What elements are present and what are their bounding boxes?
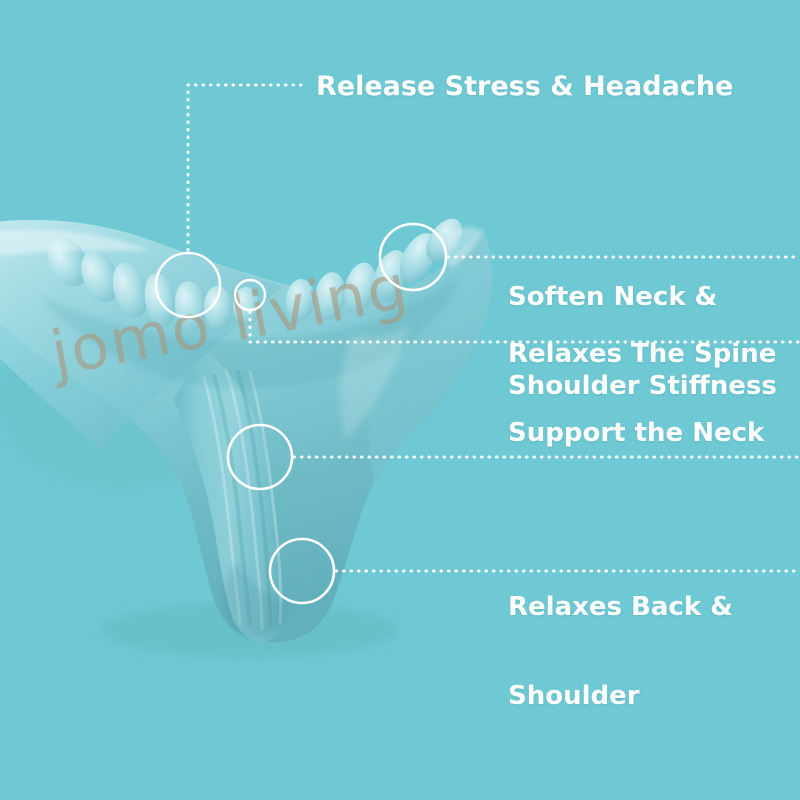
callout-label-release-stress-headache: Release Stress & Headache: [316, 72, 733, 103]
callout-circle-relaxes-back-shoulder: [270, 539, 334, 603]
callout-label-line: Shoulder Stiffness: [508, 372, 777, 402]
callout-label-relaxes-the-spine: Relaxes The Spine: [508, 340, 776, 370]
callout-label-line: Shoulder: [508, 682, 733, 712]
callout-label-line: Relaxes Back &: [508, 593, 733, 623]
callout-release-stress-headache: [156, 85, 305, 317]
callout-circle-relaxes-the-spine: [235, 280, 265, 310]
callout-circle-support-the-neck: [228, 425, 292, 489]
callout-circle-release-stress-headache: [156, 253, 220, 317]
callout-label-line: Soften Neck &: [508, 283, 777, 313]
callout-label-relaxes-back-shoulder: Relaxes Back & Shoulder: [508, 534, 733, 771]
callout-circle-soften-neck-shoulder: [380, 224, 446, 290]
product-infographic: jomo living Release Stress & Heada: [0, 0, 800, 800]
leader-line-release-stress-headache: [188, 85, 305, 250]
callout-label-support-the-neck: Support the Neck: [508, 419, 764, 449]
